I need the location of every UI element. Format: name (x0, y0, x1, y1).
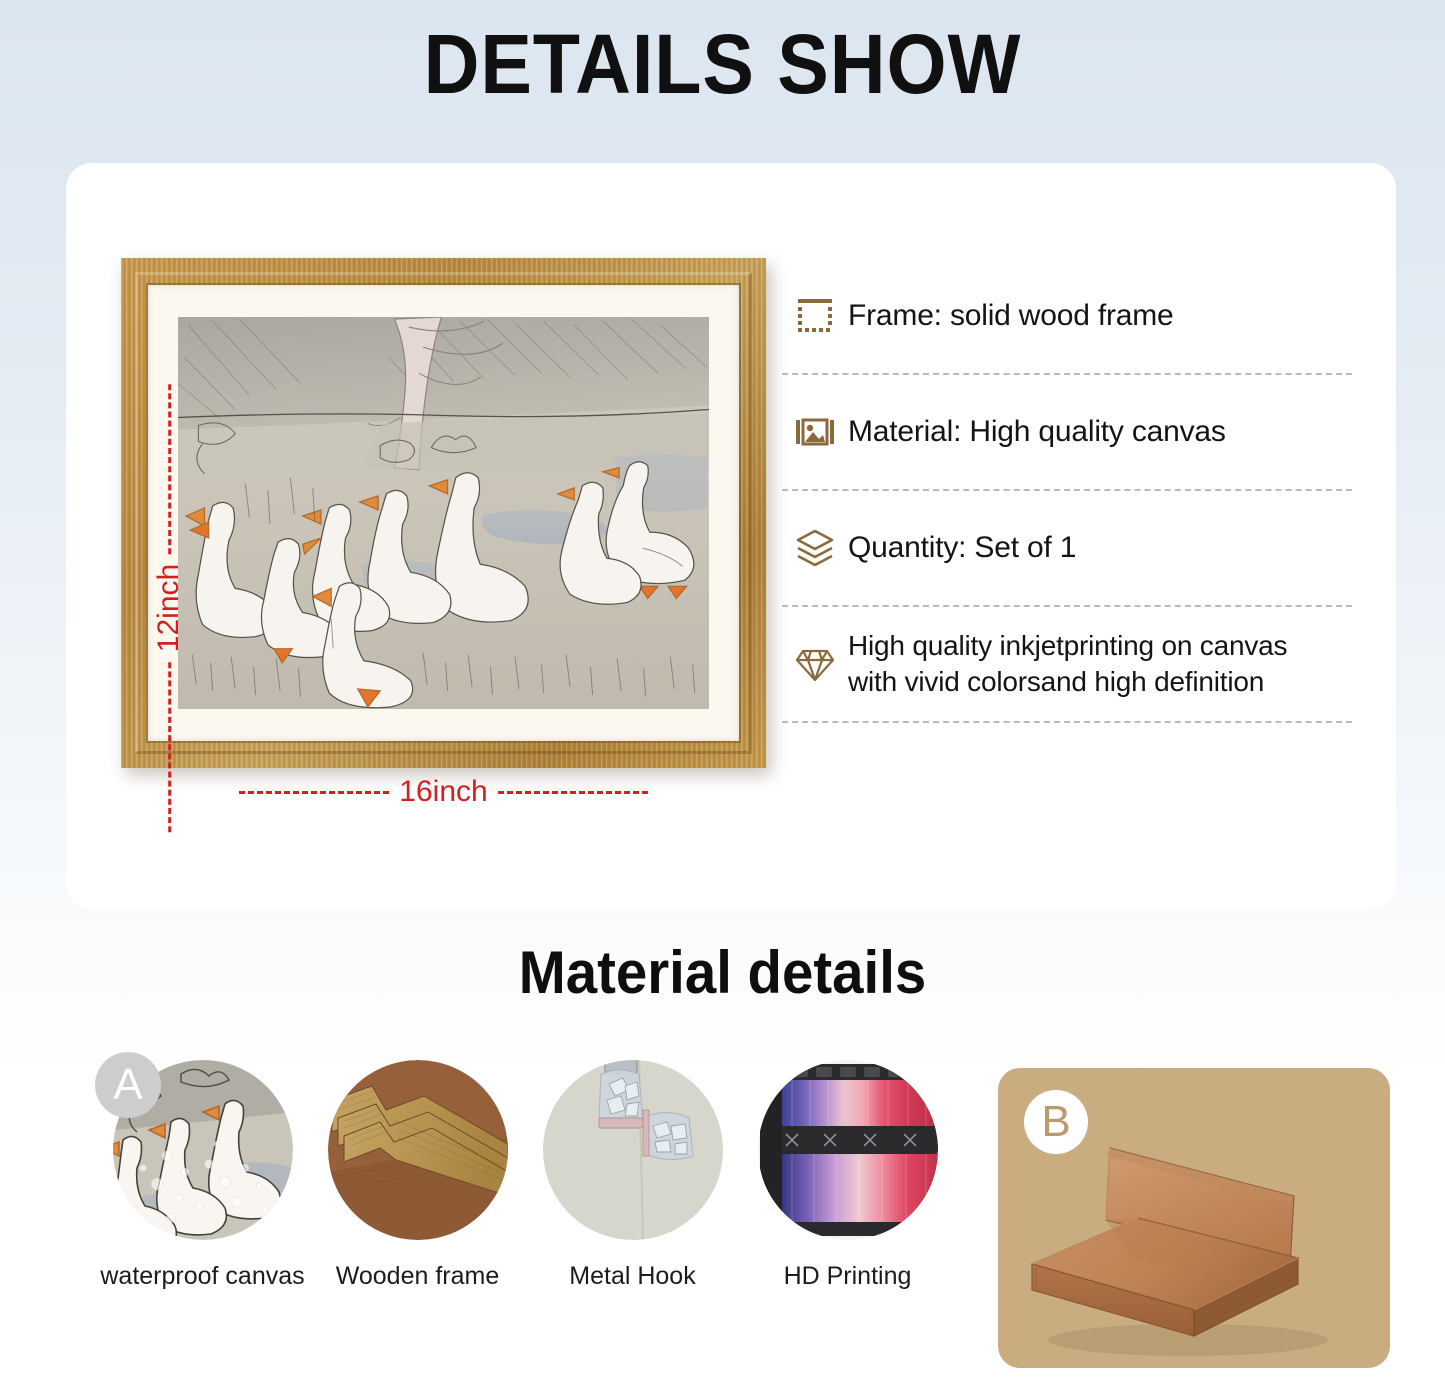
hd-printing-image (758, 1060, 938, 1240)
wooden-frame-thumb (328, 1060, 508, 1240)
feature-divider-4 (782, 721, 1352, 723)
framed-artwork: 12inch (121, 258, 766, 768)
diamond-icon (782, 643, 848, 685)
feature-item-quantity: Quantity: Set of 1 (782, 505, 1352, 591)
thumb-label-wooden-frame: Wooden frame (336, 1262, 500, 1291)
thumb-wooden-frame[interactable]: Wooden frame (310, 1060, 525, 1291)
page-title: DETAILS SHOW (58, 0, 1387, 113)
metal-hook-thumb (543, 1060, 723, 1240)
feature-label-quantity: Quantity: Set of 1 (848, 529, 1076, 567)
packaging-panel: B (998, 1068, 1390, 1368)
mat-board (148, 285, 739, 741)
height-label: 12inch (152, 564, 186, 652)
geese-artwork-svg (178, 317, 709, 709)
feature-label-printing: High quality inkjetprinting on canvas wi… (848, 628, 1287, 700)
material-thumbnails: A (95, 1060, 955, 1291)
width-dash-left (239, 791, 389, 794)
feature-divider-3 (782, 605, 1352, 607)
wood-frame (121, 258, 766, 768)
feature-divider-2 (782, 489, 1352, 491)
feature-label-material: Material: High quality canvas (848, 413, 1226, 451)
details-card: 12inch 16inch (66, 163, 1396, 909)
frame-icon (782, 296, 848, 336)
badge-b: B (1024, 1090, 1088, 1154)
layers-icon (782, 527, 848, 569)
width-dimension: 16inch (121, 775, 766, 809)
thumb-label-hd-printing: HD Printing (784, 1262, 912, 1291)
geese-artwork (178, 317, 709, 709)
thumb-hd-printing[interactable]: HD Printing (740, 1060, 955, 1291)
feature-item-material: Material: High quality canvas (782, 389, 1352, 475)
height-dash-right (168, 384, 171, 554)
material-section-title: Material details (43, 938, 1401, 1007)
feature-item-frame: Frame: solid wood frame (782, 273, 1352, 359)
width-label: 16inch (399, 775, 487, 809)
thumb-label-waterproof-canvas: waterproof canvas (100, 1262, 304, 1291)
feature-list: Frame: solid wood frame Material: High q… (782, 273, 1352, 737)
feature-divider-1 (782, 373, 1352, 375)
thumb-label-metal-hook: Metal Hook (569, 1262, 695, 1291)
thumb-metal-hook[interactable]: Metal Hook (525, 1060, 740, 1291)
hd-printing-thumb (758, 1060, 938, 1240)
picture-icon (782, 412, 848, 452)
feature-item-printing: High quality inkjetprinting on canvas wi… (782, 621, 1352, 707)
badge-a: A (95, 1052, 161, 1118)
width-dash-right (498, 791, 648, 794)
wooden-frame-image (328, 1060, 508, 1240)
metal-hook-image (543, 1060, 723, 1240)
feature-label-frame: Frame: solid wood frame (848, 297, 1174, 335)
